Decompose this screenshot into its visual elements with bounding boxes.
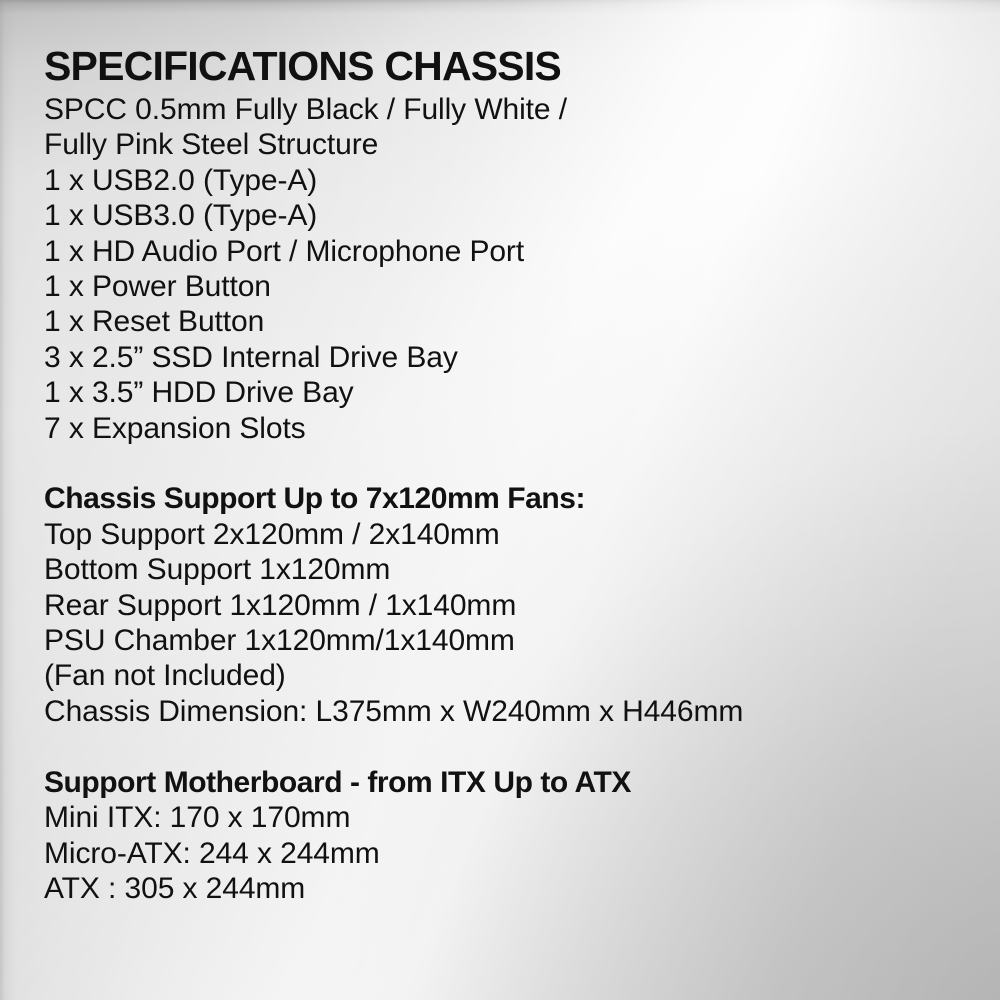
spec-line: Chassis Dimension: L375mm x W240mm x H44… [44, 694, 964, 729]
spec-line: 7 x Expansion Slots [44, 411, 964, 446]
spec-line: SPCC 0.5mm Fully Black / Fully White / [44, 92, 964, 127]
section-motherboard-support: Support Motherboard - from ITX Up to ATX… [44, 765, 964, 907]
section-chassis-specifications: SPCC 0.5mm Fully Black / Fully White / F… [44, 92, 964, 446]
specifications-panel: SPECIFICATIONS CHASSIS SPCC 0.5mm Fully … [0, 0, 1000, 1000]
section-heading: Chassis Support Up to 7x120mm Fans: [44, 481, 964, 516]
spec-line: Rear Support 1x120mm / 1x140mm [44, 588, 964, 623]
section-heading: Support Motherboard - from ITX Up to ATX [44, 765, 964, 800]
spec-line: Fully Pink Steel Structure [44, 127, 964, 162]
spec-line: 1 x HD Audio Port / Microphone Port [44, 234, 964, 269]
spec-line: ATX : 305 x 244mm [44, 871, 964, 906]
spec-line: Top Support 2x120mm / 2x140mm [44, 517, 964, 552]
spec-line: 1 x USB3.0 (Type-A) [44, 198, 964, 233]
spec-line: 1 x 3.5” HDD Drive Bay [44, 375, 964, 410]
section-spacer [44, 446, 964, 481]
spec-line: 1 x Reset Button [44, 304, 964, 339]
section-fan-support: Chassis Support Up to 7x120mm Fans: Top … [44, 481, 964, 729]
spec-line: Mini ITX: 170 x 170mm [44, 800, 964, 835]
spec-line: 1 x Power Button [44, 269, 964, 304]
spec-line: 3 x 2.5” SSD Internal Drive Bay [44, 340, 964, 375]
spec-line: Micro-ATX: 244 x 244mm [44, 836, 964, 871]
spec-line: Bottom Support 1x120mm [44, 552, 964, 587]
page-title: SPECIFICATIONS CHASSIS [44, 43, 964, 90]
spec-line: (Fan not Included) [44, 658, 964, 693]
section-spacer [44, 729, 964, 764]
spec-line: 1 x USB2.0 (Type-A) [44, 163, 964, 198]
spec-line: PSU Chamber 1x120mm/1x140mm [44, 623, 964, 658]
specifications-content: SPECIFICATIONS CHASSIS SPCC 0.5mm Fully … [44, 43, 964, 906]
